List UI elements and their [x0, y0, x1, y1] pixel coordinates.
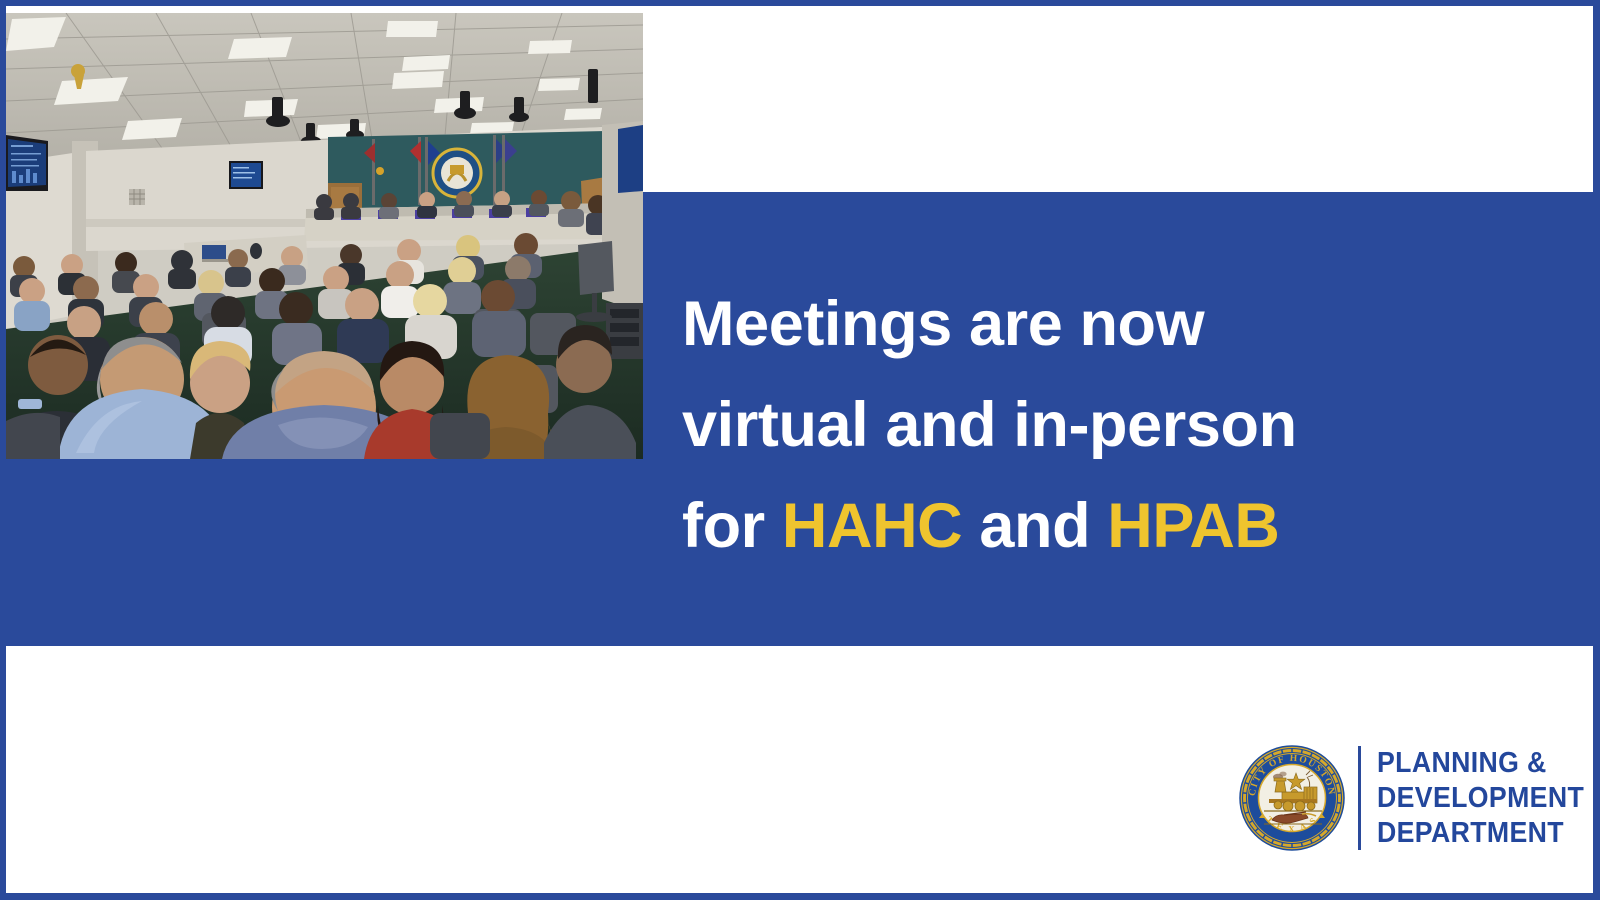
logo-lockup: CITY OF HOUSTON T E X A S: [1238, 739, 1578, 857]
department-line-1: PLANNING &: [1377, 746, 1584, 781]
headline: Meetings are now virtual and in-person f…: [682, 274, 1472, 577]
department-name: PLANNING & DEVELOPMENT DEPARTMENT: [1377, 746, 1584, 851]
headline-hahc: HAHC: [782, 491, 962, 561]
department-line-2: DEVELOPMENT: [1377, 781, 1584, 816]
slide-canvas: Meetings are now virtual and in-person f…: [0, 0, 1600, 900]
headline-line-2: virtual and in-person: [682, 375, 1472, 476]
headline-line-3-prefix: for: [682, 491, 782, 561]
meeting-room-illustration: [6, 13, 643, 459]
logo-divider-rule: [1358, 746, 1361, 850]
seal-illustration: CITY OF HOUSTON T E X A S: [1238, 744, 1346, 852]
headline-line-3: for HAHC and HPAB: [682, 476, 1472, 577]
meeting-room-photo: [6, 13, 643, 459]
city-of-houston-seal-icon: CITY OF HOUSTON T E X A S: [1238, 744, 1346, 852]
department-line-3: DEPARTMENT: [1377, 816, 1584, 851]
headline-line-3-middle: and: [962, 491, 1107, 561]
headline-hpab: HPAB: [1107, 491, 1279, 561]
headline-line-1: Meetings are now: [682, 274, 1472, 375]
